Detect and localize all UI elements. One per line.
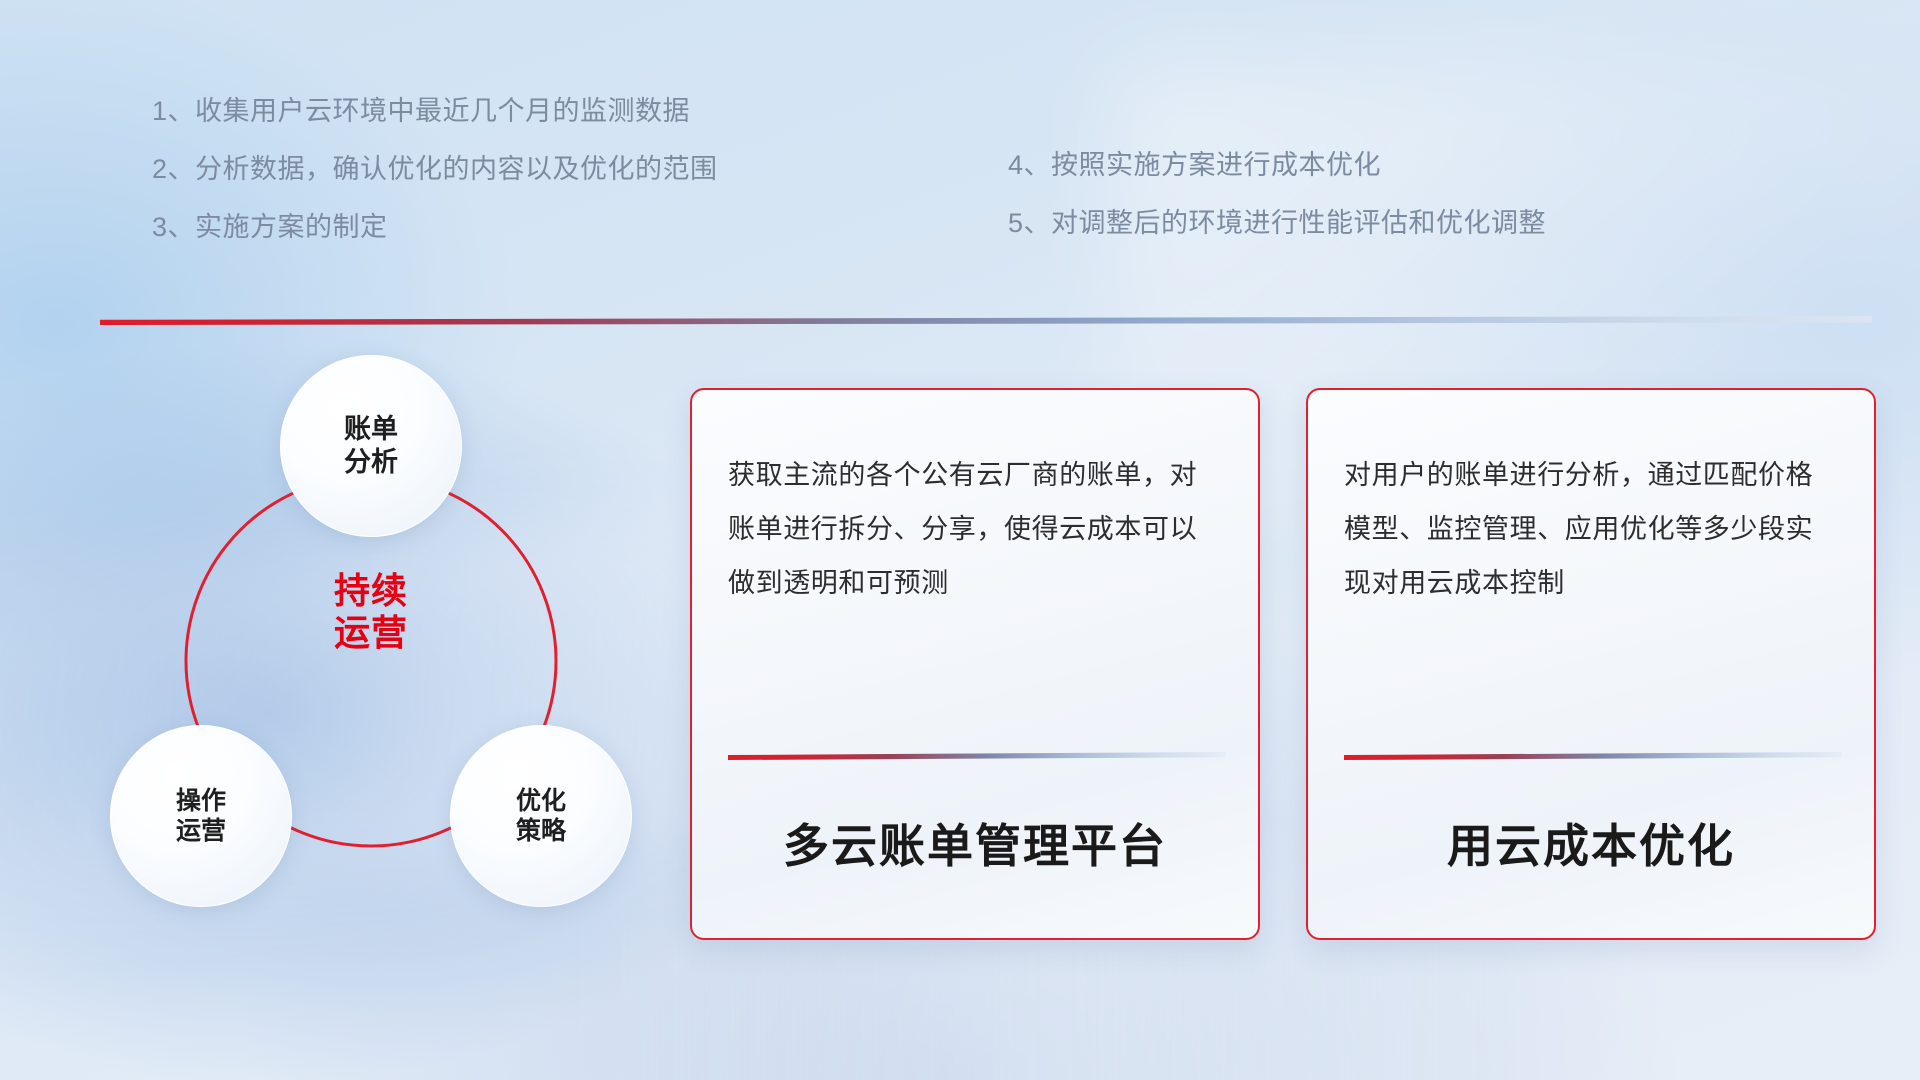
diagram-node-optimization-strategy[interactable]: 优化 策略 — [450, 725, 632, 907]
info-card-cloud-cost-optimization-rule — [1344, 752, 1842, 760]
step-item-2: 2、分析数据，确认优化的内容以及优化的范围 — [152, 156, 718, 183]
diagram-center-label: 持续 运营 — [280, 570, 462, 655]
diagram-node-bill-analysis-label: 账单 分析 — [344, 413, 398, 479]
info-card-multicloud-billing[interactable]: 获取主流的各个公有云厂商的账单，对账单进行拆分、分享，使得云成本可以做到透明和可… — [690, 388, 1260, 940]
step-item-3: 3、实施方案的制定 — [152, 214, 718, 241]
step-item-5: 5、对调整后的环境进行性能评估和优化调整 — [1008, 210, 1546, 237]
center-label-line-2: 运营 — [280, 612, 462, 654]
info-card-multicloud-billing-body: 获取主流的各个公有云厂商的账单，对账单进行拆分、分享，使得云成本可以做到透明和可… — [728, 448, 1222, 610]
diagram-node-operations[interactable]: 操作 运营 — [110, 725, 292, 907]
section-divider — [100, 316, 1872, 325]
continuous-operation-diagram: 账单 分析 操作 运营 优化 策略 持续 运营 — [95, 355, 655, 955]
steps-right-column: 4、按照实施方案进行成本优化 5、对调整后的环境进行性能评估和优化调整 — [1008, 152, 1546, 268]
info-card-cloud-cost-optimization[interactable]: 对用户的账单进行分析，通过匹配价格模型、监控管理、应用优化等多少段实现对用云成本… — [1306, 388, 1876, 940]
step-item-1: 1、收集用户云环境中最近几个月的监测数据 — [152, 98, 718, 125]
info-card-cloud-cost-optimization-body: 对用户的账单进行分析，通过匹配价格模型、监控管理、应用优化等多少段实现对用云成本… — [1344, 448, 1838, 610]
step-item-4: 4、按照实施方案进行成本优化 — [1008, 152, 1546, 179]
steps-left-column: 1、收集用户云环境中最近几个月的监测数据 2、分析数据，确认优化的内容以及优化的… — [152, 98, 718, 272]
diagram-node-optimization-strategy-label: 优化 策略 — [516, 786, 566, 847]
diagram-node-bill-analysis[interactable]: 账单 分析 — [280, 355, 462, 537]
info-card-multicloud-billing-title: 多云账单管理平台 — [692, 810, 1258, 876]
info-card-cloud-cost-optimization-title: 用云成本优化 — [1308, 810, 1874, 876]
center-label-line-1: 持续 — [280, 570, 462, 612]
slide-canvas: 1、收集用户云环境中最近几个月的监测数据 2、分析数据，确认优化的内容以及优化的… — [0, 0, 1920, 1080]
diagram-node-operations-label: 操作 运营 — [176, 786, 226, 847]
info-card-multicloud-billing-rule — [728, 752, 1226, 760]
